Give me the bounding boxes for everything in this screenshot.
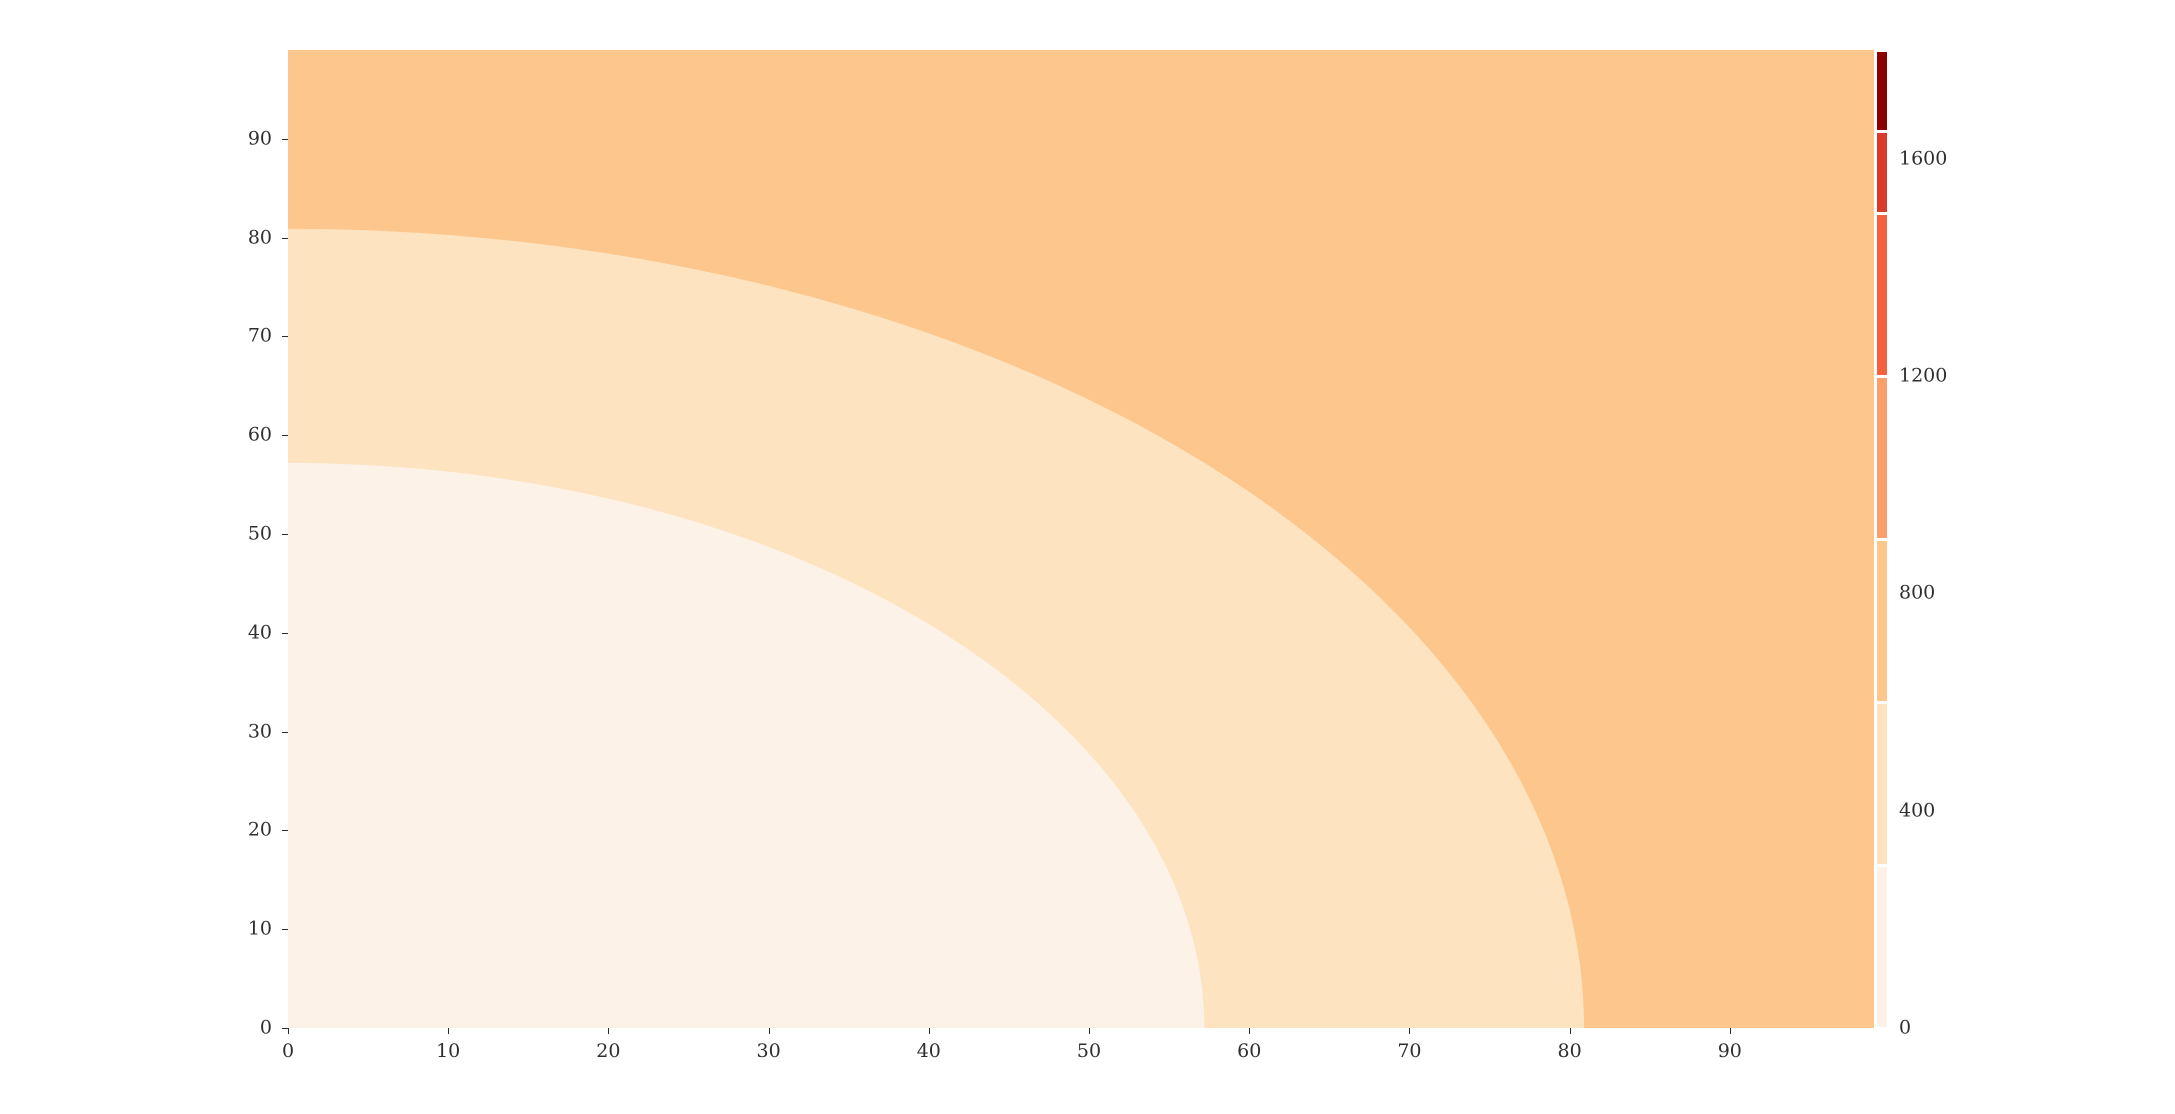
y-axis-tick (282, 534, 288, 535)
colorbar-segment (1877, 215, 1887, 375)
y-axis-tick (282, 929, 288, 930)
y-axis-tick-label: 20 (218, 821, 272, 840)
x-axis-tick-label: 20 (596, 1042, 620, 1061)
colorbar-tick-label: 1600 (1899, 149, 1947, 168)
y-axis-tick-label: 10 (218, 920, 272, 939)
colorbar-segment (1877, 133, 1887, 212)
colorbar[interactable] (1877, 50, 1887, 1028)
y-axis-tick-label: 70 (218, 327, 272, 346)
y-axis-tick (282, 336, 288, 337)
x-axis-tick-label: 10 (436, 1042, 460, 1061)
colorbar-tick-label: 1200 (1899, 367, 1947, 386)
x-axis-tick (1409, 1028, 1410, 1034)
y-axis-tick (282, 238, 288, 239)
x-axis-tick (1249, 1028, 1250, 1034)
x-axis-tick-label: 70 (1397, 1042, 1421, 1061)
x-axis-tick (1570, 1028, 1571, 1034)
colorbar-segment (1877, 541, 1887, 701)
x-axis-tick-label: 60 (1237, 1042, 1261, 1061)
y-axis-tick (282, 732, 288, 733)
colorbar-tick-label: 800 (1899, 584, 1935, 603)
y-axis-tick-label: 60 (218, 426, 272, 445)
x-axis-tick-label: 40 (917, 1042, 941, 1061)
contour-bands (288, 50, 1874, 1028)
x-axis-tick-label: 0 (282, 1042, 294, 1061)
y-axis-tick (282, 139, 288, 140)
x-axis-tick (448, 1028, 449, 1034)
x-axis-tick (769, 1028, 770, 1034)
colorbar-segment (1877, 704, 1887, 864)
y-axis-tick-label: 50 (218, 525, 272, 544)
y-axis-tick (282, 435, 288, 436)
y-axis-tick (282, 830, 288, 831)
x-axis-tick-label: 30 (757, 1042, 781, 1061)
x-axis-tick (288, 1028, 289, 1034)
figure-canvas: 0102030405060708090 0102030405060708090 … (0, 0, 2175, 1114)
y-axis-tick (282, 1028, 288, 1029)
y-axis-tick (282, 633, 288, 634)
colorbar-segment (1877, 52, 1887, 131)
y-axis-tick-label: 0 (218, 1019, 272, 1038)
y-axis-tick-label: 40 (218, 623, 272, 642)
x-axis-tick (608, 1028, 609, 1034)
contour-plot-area[interactable] (288, 50, 1874, 1028)
colorbar-segment (1877, 378, 1887, 538)
y-axis-tick-label: 30 (218, 722, 272, 741)
x-axis-tick-label: 80 (1558, 1042, 1582, 1061)
colorbar-segment (1877, 867, 1887, 1027)
x-axis-tick-label: 50 (1077, 1042, 1101, 1061)
colorbar-tick-label: 0 (1899, 1019, 1911, 1038)
x-axis-tick (1089, 1028, 1090, 1034)
y-axis-tick-label: 90 (218, 129, 272, 148)
x-axis-tick-label: 90 (1718, 1042, 1742, 1061)
colorbar-tick-label: 400 (1899, 801, 1935, 820)
x-axis-tick (929, 1028, 930, 1034)
y-axis-tick-label: 80 (218, 228, 272, 247)
x-axis-tick (1730, 1028, 1731, 1034)
